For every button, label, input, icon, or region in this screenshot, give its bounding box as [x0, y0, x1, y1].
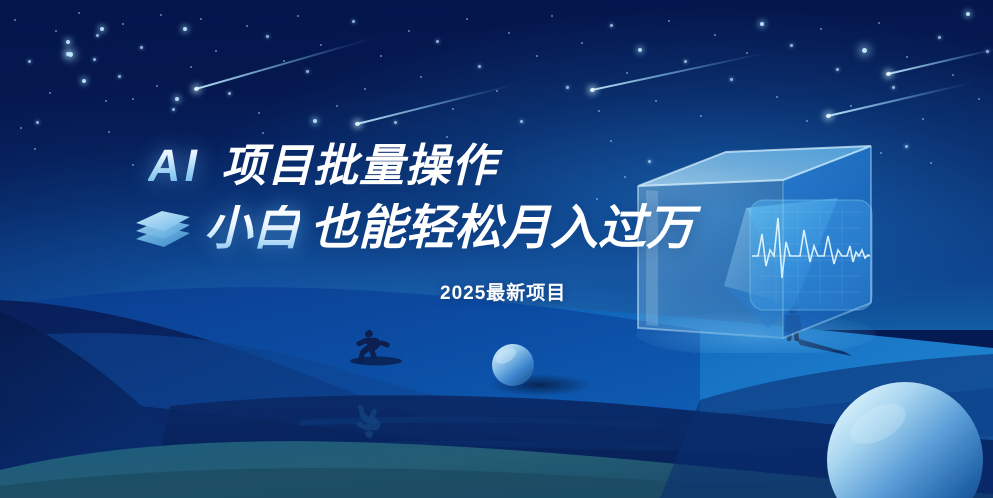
headline-ai-word: AI: [148, 143, 205, 188]
subtitle: 2025最新项目: [440, 278, 566, 305]
headline-line-2-text: 也能轻松月入过万: [310, 205, 694, 253]
stacked-layers-icon: [132, 205, 194, 253]
promo-banner: AI 项目批量操作: [0, 0, 993, 498]
headline-line-1: AI 项目批量操作: [148, 143, 497, 188]
headline-line-1-text: 项目批量操作: [221, 143, 497, 188]
headline-line-2-highlight: 小白: [204, 205, 300, 253]
headline-line-2: 小白 也能轻松月入过万: [132, 205, 694, 253]
